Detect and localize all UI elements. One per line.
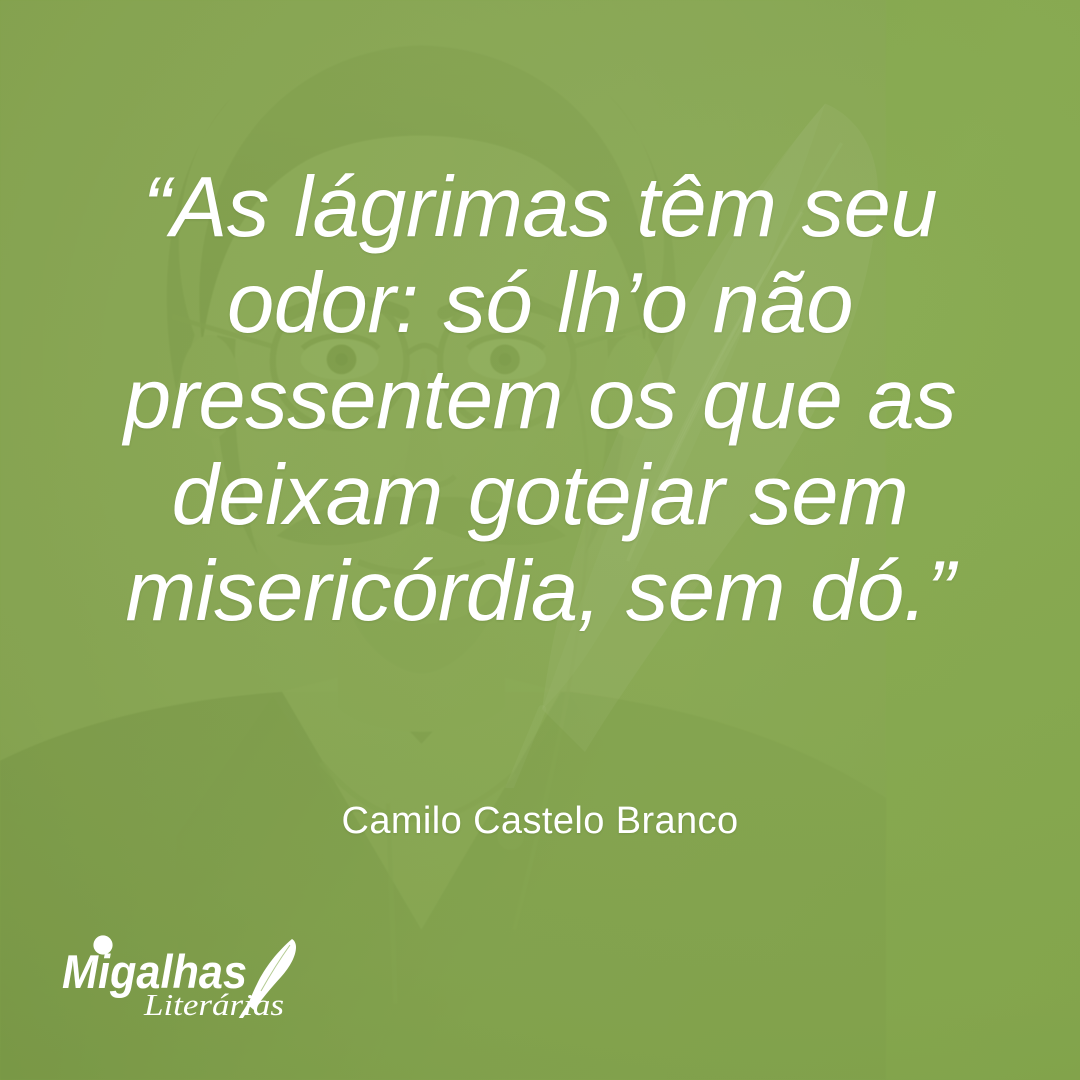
quote-line-3: pressentem os que as — [60, 352, 1020, 448]
quote-line-1: “As lágrimas têm seu — [60, 160, 1020, 256]
migalhas-literarias-logo[interactable]: Migalhas Literárias — [62, 933, 317, 1018]
logo-secondary-text: Literárias — [143, 987, 284, 1018]
quote-card: “As lágrimas têm seu odor: só lh’o não p… — [0, 0, 1080, 1080]
quote-text: “As lágrimas têm seu odor: só lh’o não p… — [60, 160, 1020, 640]
quote-line-2: odor: só lh’o não — [60, 256, 1020, 352]
quote-line-4: deixam gotejar sem — [60, 448, 1020, 544]
quote-line-5: misericórdia, sem dó.” — [60, 544, 1020, 640]
author-name: Camilo Castelo Branco — [0, 798, 1080, 844]
